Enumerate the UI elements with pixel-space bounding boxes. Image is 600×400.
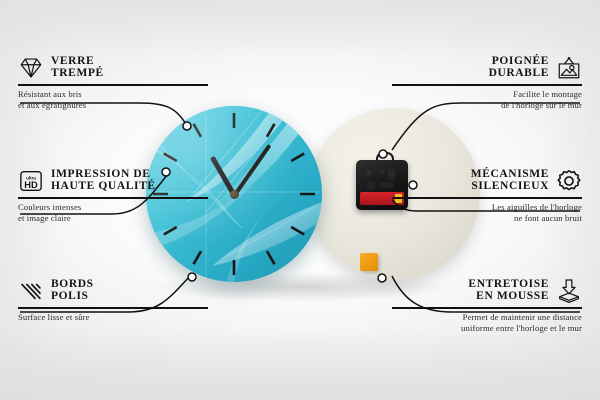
title-line-2: TREMPÉ: [51, 68, 104, 80]
feature-title: MÉCANISME SILENCIEUX: [471, 169, 549, 192]
gear-icon: [556, 168, 582, 194]
feature-header: MÉCANISME SILENCIEUX: [392, 168, 582, 194]
feature-title: BORDS POLIS: [51, 279, 94, 302]
divider: [392, 197, 582, 199]
description-line-1: Les aiguilles de l'horloge: [392, 202, 582, 214]
feature-entretoise-en-mousse: ENTRETOISE EN MOUSSE Permet de maintenir…: [392, 278, 582, 335]
description-line-2: ne font aucun bruit: [392, 213, 582, 225]
feature-header: VERRE TREMPÉ: [18, 55, 208, 81]
wire-dot-verre-trempe: [183, 122, 191, 130]
divider: [18, 307, 208, 309]
diamond-icon: [18, 55, 44, 81]
feature-poignee-durable: POIGNÉE DURABLE Facilite le montage de l…: [392, 55, 582, 112]
hd-label: HD: [24, 180, 38, 190]
feature-title: IMPRESSION DE HAUTE QUALITÉ: [51, 169, 156, 192]
description-line-2: et aux égratignures: [18, 100, 208, 112]
ultra-hd-icon: ultra HD: [18, 168, 44, 194]
feature-verre-trempe: VERRE TREMPÉ Résistant aux bris et aux é…: [18, 55, 208, 112]
description-line-1: Résistant aux bris: [18, 89, 208, 101]
feature-header: POIGNÉE DURABLE: [392, 55, 582, 81]
feature-mecanisme-silencieux: MÉCANISME SILENCIEUX Les aiguilles de l'…: [392, 168, 582, 225]
feature-header: ultra HD IMPRESSION DE HAUTE QUALITÉ: [18, 168, 208, 194]
feature-description: Permet de maintenir une distance uniform…: [392, 312, 582, 335]
description-line-2: de l'horloge sur le mur: [392, 100, 582, 112]
feature-title: VERRE TREMPÉ: [51, 56, 104, 79]
feature-description: Facilite le montage de l'horloge sur le …: [392, 89, 582, 112]
feature-title: POIGNÉE DURABLE: [489, 56, 549, 79]
divider: [18, 84, 208, 86]
feature-bords-polis: BORDS POLIS Surface lisse et sûre: [18, 278, 208, 323]
title-line-2: DURABLE: [489, 68, 549, 80]
wire-dot-entretoise: [378, 274, 386, 282]
feature-description: Les aiguilles de l'horloge ne font aucun…: [392, 202, 582, 225]
description-line-1: Surface lisse et sûre: [18, 312, 208, 324]
product-infographic: VERRE TREMPÉ Résistant aux bris et aux é…: [0, 0, 600, 400]
description-line-1: Couleurs intenses: [18, 202, 208, 214]
feature-title: ENTRETOISE EN MOUSSE: [468, 279, 549, 302]
feature-description: Résistant aux bris et aux égratignures: [18, 89, 208, 112]
description-line-2: uniforme entre l'horloge et le mur: [392, 323, 582, 335]
feature-description: Couleurs intenses et image claire: [18, 202, 208, 225]
description-line-2: et image claire: [18, 213, 208, 225]
picture-frame-hanger-icon: [556, 55, 582, 81]
feature-description: Surface lisse et sûre: [18, 312, 208, 324]
feature-header: BORDS POLIS: [18, 278, 208, 304]
divider: [392, 307, 582, 309]
feature-header: ENTRETOISE EN MOUSSE: [392, 278, 582, 304]
press-foam-icon: [556, 278, 582, 304]
polished-edges-icon: [18, 278, 44, 304]
title-line-2: SILENCIEUX: [471, 181, 549, 193]
divider: [392, 84, 582, 86]
wire-dot-poignee: [379, 150, 387, 158]
title-line-2: EN MOUSSE: [476, 291, 549, 303]
description-line-1: Facilite le montage: [392, 89, 582, 101]
title-line-2: HAUTE QUALITÉ: [51, 181, 156, 193]
feature-impression-haute-qualite: ultra HD IMPRESSION DE HAUTE QUALITÉ Cou…: [18, 168, 208, 225]
description-line-1: Permet de maintenir une distance: [392, 312, 582, 324]
title-line-2: POLIS: [51, 291, 94, 303]
divider: [18, 197, 208, 199]
